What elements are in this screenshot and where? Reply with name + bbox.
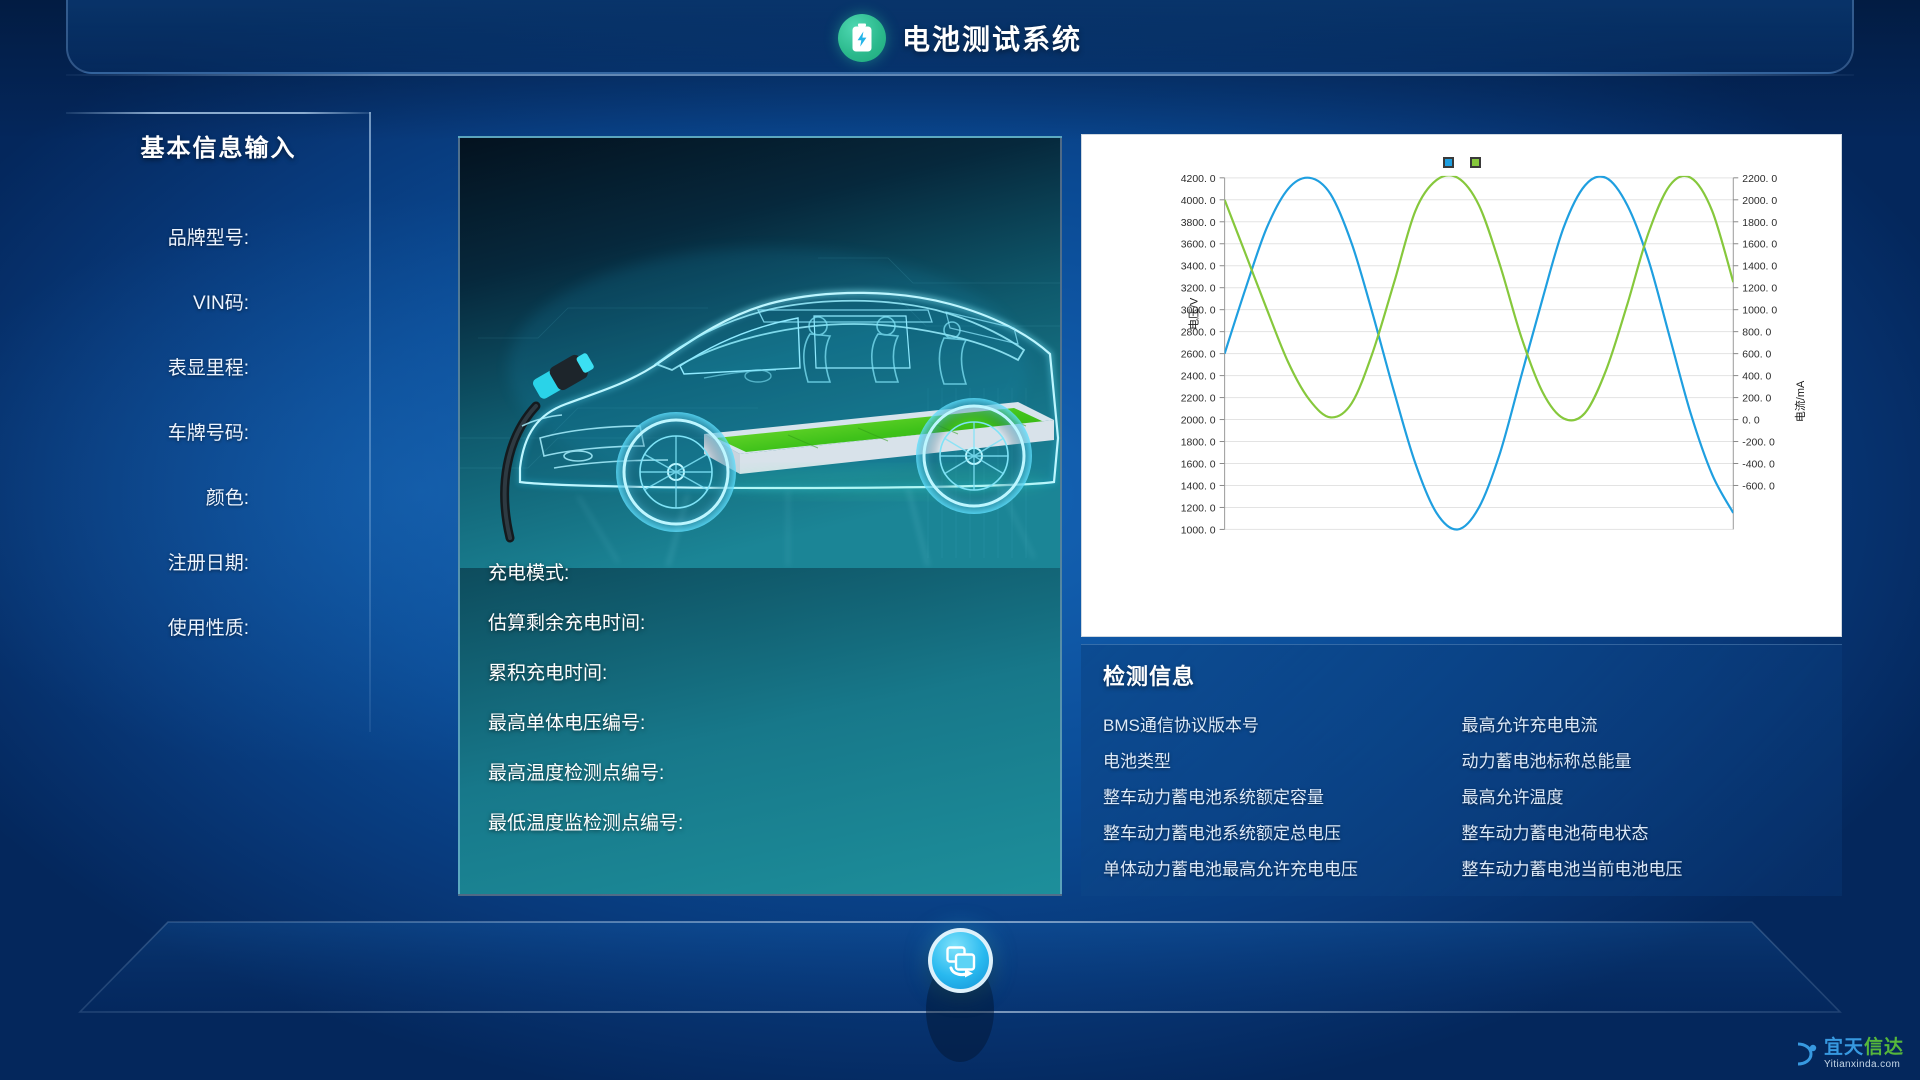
svg-text:2200. 0: 2200. 0 [1181,394,1216,405]
vehicle-field-list: 充电模式:估算剩余充电时间:累积充电时间:最高单体电压编号:最高温度检测点编号:… [488,546,1048,846]
vehicle-field-row: 最高温度检测点编号: [488,746,1048,796]
svg-text:1400. 0: 1400. 0 [1181,481,1216,492]
battery-bolt-icon [838,14,886,62]
sidebar-field-list: 品牌型号:VIN码:表显里程:车牌号码:颜色:注册日期:使用性质: [66,204,371,659]
svg-text:电流/mA: 电流/mA [1793,380,1807,422]
watermark: 宜天信达 Yitianxinda.com [1795,1038,1904,1070]
sidebar-field-label: 品牌型号: [168,223,249,250]
svg-text:3400. 0: 3400. 0 [1181,262,1216,273]
sidebar-field-label: 车牌号码: [168,418,249,445]
svg-text:-200. 0: -200. 0 [1742,438,1775,449]
vehicle-field-label: 累积充电时间: [488,658,607,685]
sidebar-field-label: 表显里程: [168,353,249,380]
svg-text:3800. 0: 3800. 0 [1181,218,1216,229]
sidebar-field-row: 使用性质: [66,594,371,659]
svg-text:200. 0: 200. 0 [1742,394,1771,405]
sidebar-field-input[interactable] [253,484,357,510]
detection-info-label: 整车动力蓄电池系统额定总电压 [1103,819,1341,844]
chart-plot-area: 4200. 04000. 03800. 03600. 03400. 03200.… [1082,135,1841,636]
vehicle-field-row: 累积充电时间: [488,646,1048,696]
svg-text:3200. 0: 3200. 0 [1181,284,1216,295]
detection-info-label: 动力蓄电池标称总能量 [1462,747,1632,772]
svg-text:2600. 0: 2600. 0 [1181,350,1216,361]
vehicle-field-row: 充电模式: [488,546,1048,596]
svg-text:-400. 0: -400. 0 [1742,459,1775,470]
sidebar-field-row: 品牌型号: [66,204,371,269]
svg-text:1200. 0: 1200. 0 [1742,284,1777,295]
sidebar-field-input[interactable] [253,354,357,380]
detection-info-label: BMS通信协议版本号 [1103,711,1259,736]
svg-text:1600. 0: 1600. 0 [1181,459,1216,470]
svg-text:1400. 0: 1400. 0 [1742,262,1777,273]
svg-text:400. 0: 400. 0 [1742,372,1771,383]
detection-info-right-column: 最高允许充电电流动力蓄电池标称总能量最高允许温度整车动力蓄电池荷电状态整车动力蓄… [1462,705,1821,885]
svg-text:3600. 0: 3600. 0 [1181,240,1216,251]
sidebar-field-row: 表显里程: [66,334,371,399]
basic-info-sidebar: 基本信息输入 品牌型号:VIN码:表显里程:车牌号码:颜色:注册日期:使用性质: [66,112,371,732]
detection-info-label: 最高允许温度 [1462,783,1564,808]
svg-text:2000. 0: 2000. 0 [1181,416,1216,427]
sidebar-field-input[interactable] [253,224,357,250]
detection-info-panel: 检测信息 BMS通信协议版本号电池类型整车动力蓄电池系统额定容量整车动力蓄电池系… [1081,644,1842,896]
sidebar-field-label: 注册日期: [168,548,249,575]
detection-info-row: 单体动力蓄电池最高允许充电电压 [1103,849,1462,885]
detection-info-heading: 检测信息 [1103,659,1820,691]
sidebar-field-row: 颜色: [66,464,371,529]
ev-car-illustration [460,138,1060,568]
detection-info-left-column: BMS通信协议版本号电池类型整车动力蓄电池系统额定容量整车动力蓄电池系统额定总电… [1103,705,1462,885]
svg-text:1000. 0: 1000. 0 [1742,306,1777,317]
detection-info-row: 最高允许充电电流 [1462,705,1821,741]
app-header: 电池测试系统 [0,0,1920,88]
sidebar-heading: 基本信息输入 [66,128,371,163]
vehicle-field-row: 最低温度监检测点编号: [488,796,1048,846]
detection-info-row: 动力蓄电池标称总能量 [1462,741,1821,777]
vehicle-field-label: 最高温度检测点编号: [488,758,664,785]
sidebar-field-input[interactable] [253,419,357,445]
vehicle-field-row: 最高单体电压编号: [488,696,1048,746]
chart-legend[interactable] [1082,157,1841,168]
svg-text:4000. 0: 4000. 0 [1181,196,1216,207]
vehicle-field-label: 最低温度监检测点编号: [488,808,683,835]
sidebar-field-input[interactable] [253,289,357,315]
svg-text:800. 0: 800. 0 [1742,328,1771,339]
svg-text:4200. 0: 4200. 0 [1181,174,1216,185]
detection-info-label: 整车动力蓄电池系统额定容量 [1103,783,1324,808]
svg-text:1800. 0: 1800. 0 [1181,438,1216,449]
vehicle-field-label: 最高单体电压编号: [488,708,645,735]
detection-info-row: 最高允许温度 [1462,777,1821,813]
detection-info-label: 单体动力蓄电池最高允许充电电压 [1103,855,1358,880]
svg-text:2000. 0: 2000. 0 [1742,196,1777,207]
sidebar-field-label: VIN码: [193,288,249,315]
svg-text:-600. 0: -600. 0 [1742,481,1775,492]
measurement-chart-panel[interactable]: 4200. 04000. 03800. 03600. 03400. 03200.… [1081,134,1842,637]
svg-text:2400. 0: 2400. 0 [1181,372,1216,383]
detection-info-row: 整车动力蓄电池荷电状态 [1462,813,1821,849]
svg-text:1200. 0: 1200. 0 [1181,503,1216,514]
svg-text:2200. 0: 2200. 0 [1742,174,1777,185]
svg-text:1000. 0: 1000. 0 [1181,525,1216,536]
legend-swatch-2[interactable] [1470,157,1481,168]
detection-info-row: BMS通信协议版本号 [1103,705,1462,741]
detection-info-row: 整车动力蓄电池系统额定容量 [1103,777,1462,813]
sidebar-field-label: 颜色: [206,483,249,510]
detection-info-label: 电池类型 [1103,747,1171,772]
detection-info-label: 最高允许充电电流 [1462,711,1598,736]
sidebar-field-input[interactable] [253,614,357,640]
detection-info-row: 电池类型 [1103,741,1462,777]
svg-text:1800. 0: 1800. 0 [1742,218,1777,229]
svg-text:0. 0: 0. 0 [1742,416,1760,427]
legend-swatch-1[interactable] [1443,157,1454,168]
watermark-text-en: Yitianxinda.com [1824,1060,1904,1070]
detection-info-label: 整车动力蓄电池荷电状态 [1462,819,1649,844]
svg-text:1600. 0: 1600. 0 [1742,240,1777,251]
sidebar-field-row: VIN码: [66,269,371,334]
detection-info-row: 整车动力蓄电池系统额定总电压 [1103,813,1462,849]
vehicle-panel: 充电模式:估算剩余充电时间:累积充电时间:最高单体电压编号:最高温度检测点编号:… [458,136,1062,896]
watermark-logo-icon [1795,1041,1819,1067]
svg-text:电压/V: 电压/V [1188,297,1201,330]
sidebar-field-input[interactable] [253,549,357,575]
sidebar-field-row: 注册日期: [66,529,371,594]
sidebar-field-label: 使用性质: [168,613,249,640]
vehicle-field-label: 充电模式: [488,558,569,585]
vehicle-field-label: 估算剩余充电时间: [488,608,645,635]
sidebar-top-divider [66,112,371,114]
svg-text:600. 0: 600. 0 [1742,350,1771,361]
switch-windows-icon[interactable] [928,928,993,993]
sidebar-field-row: 车牌号码: [66,399,371,464]
detection-info-row: 整车动力蓄电池当前电池电压 [1462,849,1821,885]
page-title: 电池测试系统 [902,18,1082,58]
vehicle-field-row: 估算剩余充电时间: [488,596,1048,646]
watermark-text-cn: 宜天信达 [1824,1038,1904,1057]
detection-info-label: 整车动力蓄电池当前电池电压 [1462,855,1683,880]
